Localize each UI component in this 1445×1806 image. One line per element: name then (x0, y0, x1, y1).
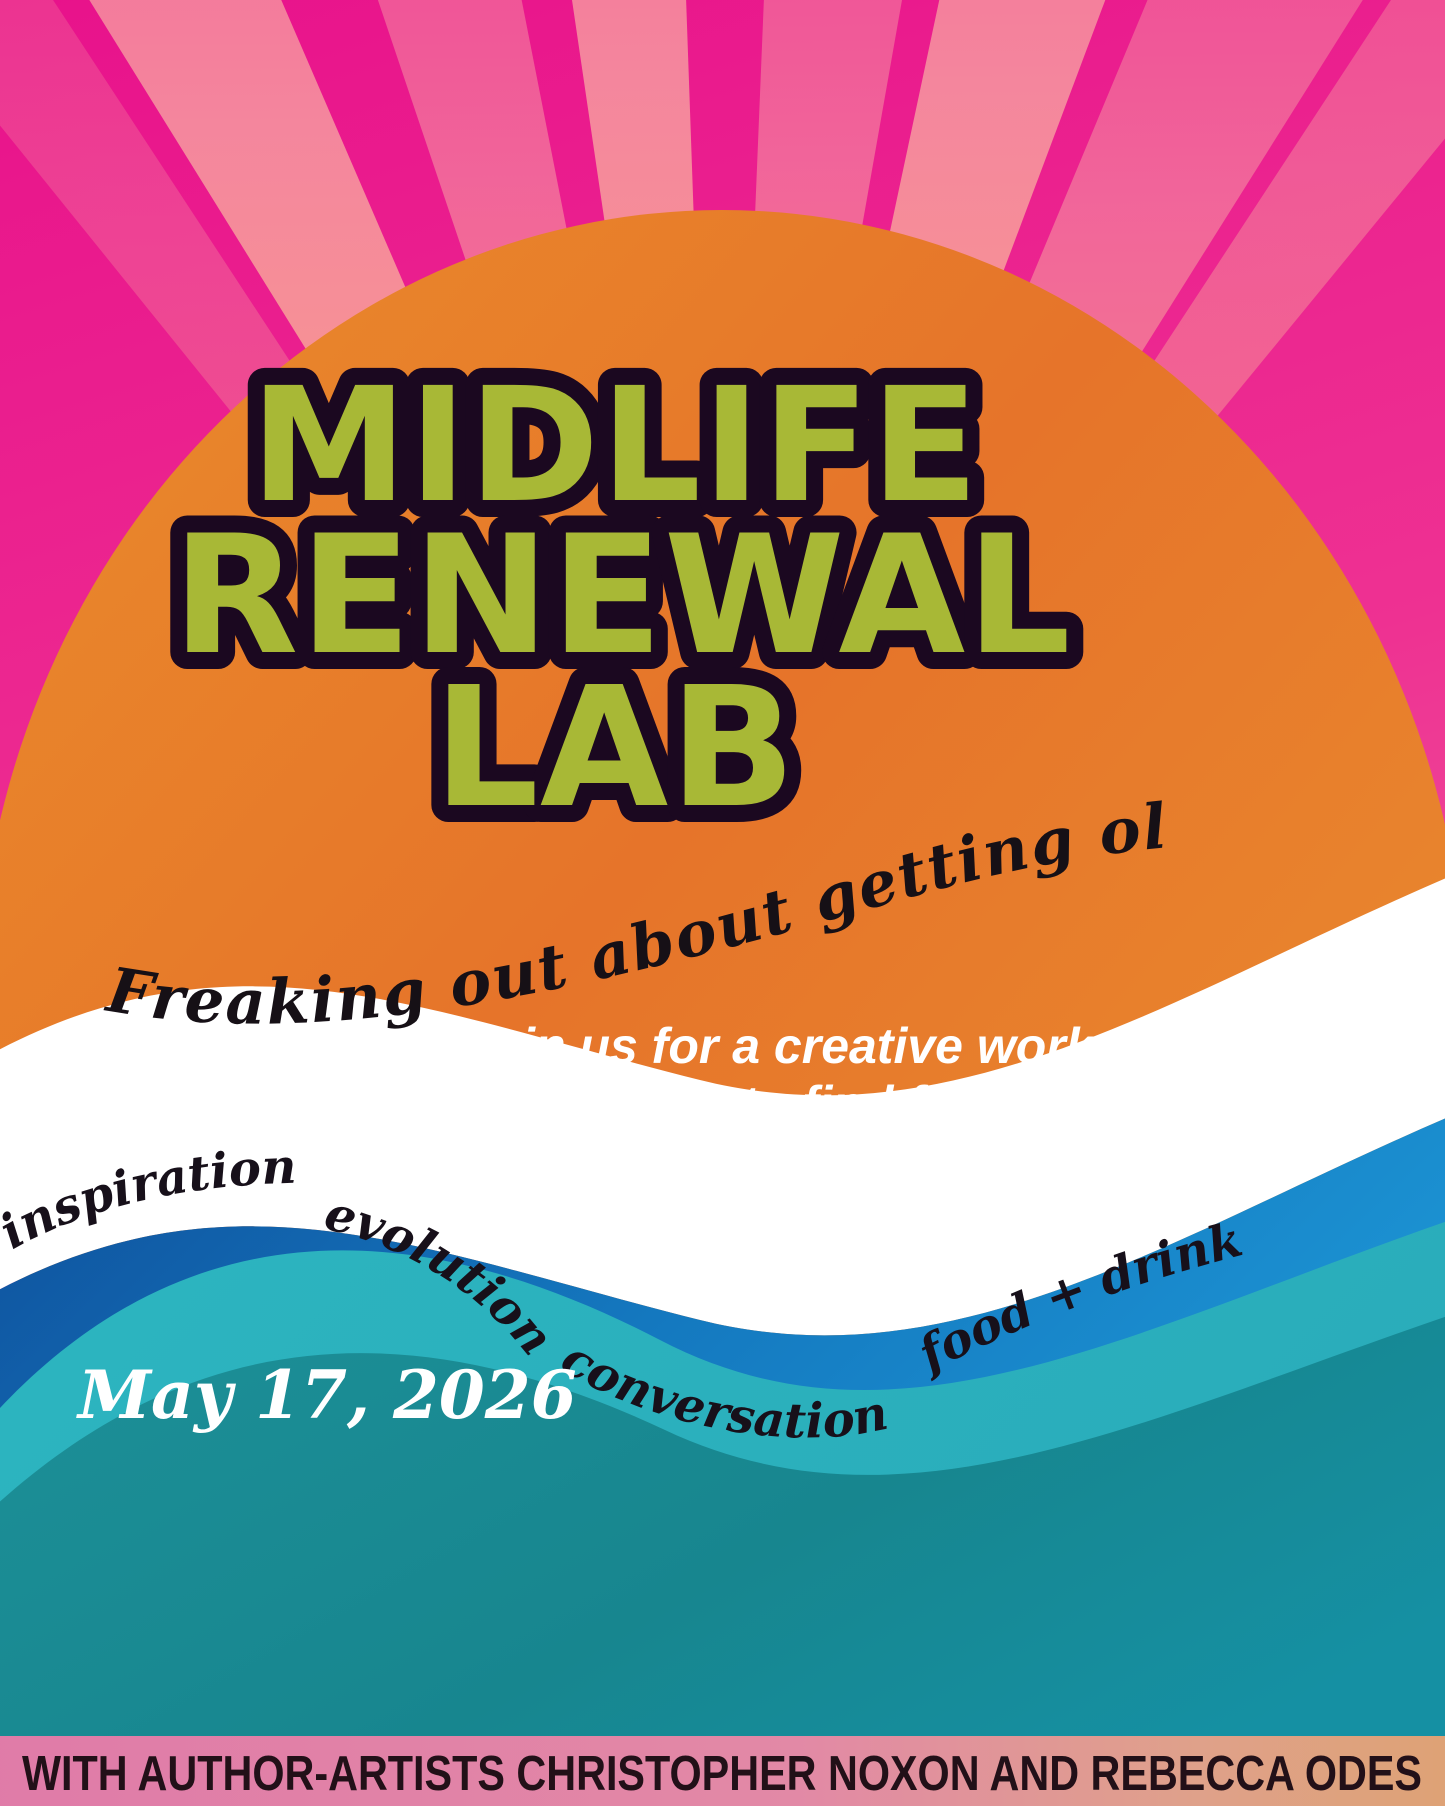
poster-canvas: MIDLIFE MIDLIFE RENEWAL RENEWAL LAB LAB … (0, 0, 1445, 1806)
footer-credits: WITH AUTHOR-ARTISTS CHRISTOPHER NOXON AN… (22, 1747, 1422, 1801)
footer-layer: WITH AUTHOR-ARTISTS CHRISTOPHER NOXON AN… (0, 0, 1445, 1806)
